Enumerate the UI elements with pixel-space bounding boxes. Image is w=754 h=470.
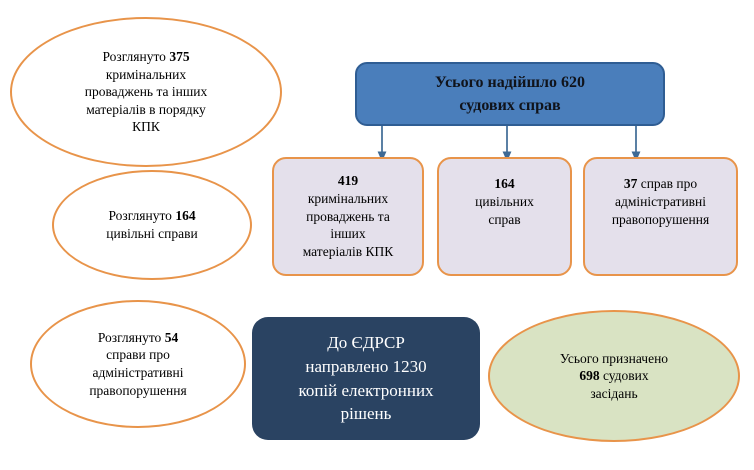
box-criminal-cases-text: 419 кримінальних проваджень та інших мат… [274,159,422,274]
text-line: справи про [38,346,238,364]
text-line: засідань [496,385,732,403]
ellipse-reviewed-civil: Розглянуто 164 цивільні справи [52,170,252,280]
text-line: Розглянуто 375 [18,48,274,66]
text-line: цивільних [445,193,564,211]
ellipse-reviewed-criminal: Розглянуто 375 кримінальних проваджень т… [10,17,282,167]
text-line: 698 судових [496,367,732,385]
text-line: матеріалів в порядку [18,101,274,119]
text-line: кримінальних [18,66,274,84]
text-line: 37 справ про [591,175,730,193]
ellipse-reviewed-civil-text: Розглянуто 164 цивільні справи [54,172,250,278]
ellipse-reviewed-criminal-text: Розглянуто 375 кримінальних проваджень т… [12,19,280,165]
box-edrsr-copies: До ЄДРСР направлено 1230 копій електронн… [252,317,480,440]
box-edrsr-copies-text: До ЄДРСР направлено 1230 копій електронн… [252,317,480,440]
text-line: адміністративні [591,193,730,211]
text-line: проваджень та [280,208,416,226]
text-line: рішень [258,402,474,426]
text-line: правопорушення [591,211,730,229]
text-line: 419 [280,172,416,190]
text-line: інших [280,225,416,243]
text-line: копій електронних [258,379,474,403]
text-line: кримінальних [280,190,416,208]
text-line: цивільні справи [60,225,244,243]
box-administrative-cases: 37 справ про адміністративні правопоруше… [583,157,738,276]
text-line: правопорушення [38,382,238,400]
text-line: КПК [18,118,274,136]
text-line: До ЄДРСР [258,331,474,355]
text-line: справ [445,211,564,229]
ellipse-reviewed-administrative: Розглянуто 54 справи про адміністративні… [30,300,246,428]
ellipse-reviewed-administrative-text: Розглянуто 54 справи про адміністративні… [32,302,244,426]
ellipse-total-hearings-text: Усього призначено 698 судових засідань [490,312,738,440]
text-line: Розглянуто 54 [38,329,238,347]
box-civil-cases: 164 цивільних справ [437,157,572,276]
header-box-text: Усього надійшло 620 судових справ [357,64,663,124]
text-line: судових справ [363,94,657,117]
text-line: направлено 1230 [258,355,474,379]
text-line: проваджень та інших [18,83,274,101]
text-line: Усього надійшло 620 [363,71,657,94]
header-box-total-cases: Усього надійшло 620 судових справ [355,62,665,126]
diagram-canvas: Розглянуто 375 кримінальних проваджень т… [0,0,754,470]
box-civil-cases-text: 164 цивільних справ [439,159,570,274]
box-administrative-cases-text: 37 справ про адміністративні правопоруше… [585,159,736,274]
box-criminal-cases: 419 кримінальних проваджень та інших мат… [272,157,424,276]
text-line: адміністративні [38,364,238,382]
text-line: матеріалів КПК [280,243,416,261]
text-line: Розглянуто 164 [60,207,244,225]
ellipse-total-hearings: Усього призначено 698 судових засідань [488,310,740,442]
text-line: 164 [445,175,564,193]
text-line: Усього призначено [496,350,732,368]
